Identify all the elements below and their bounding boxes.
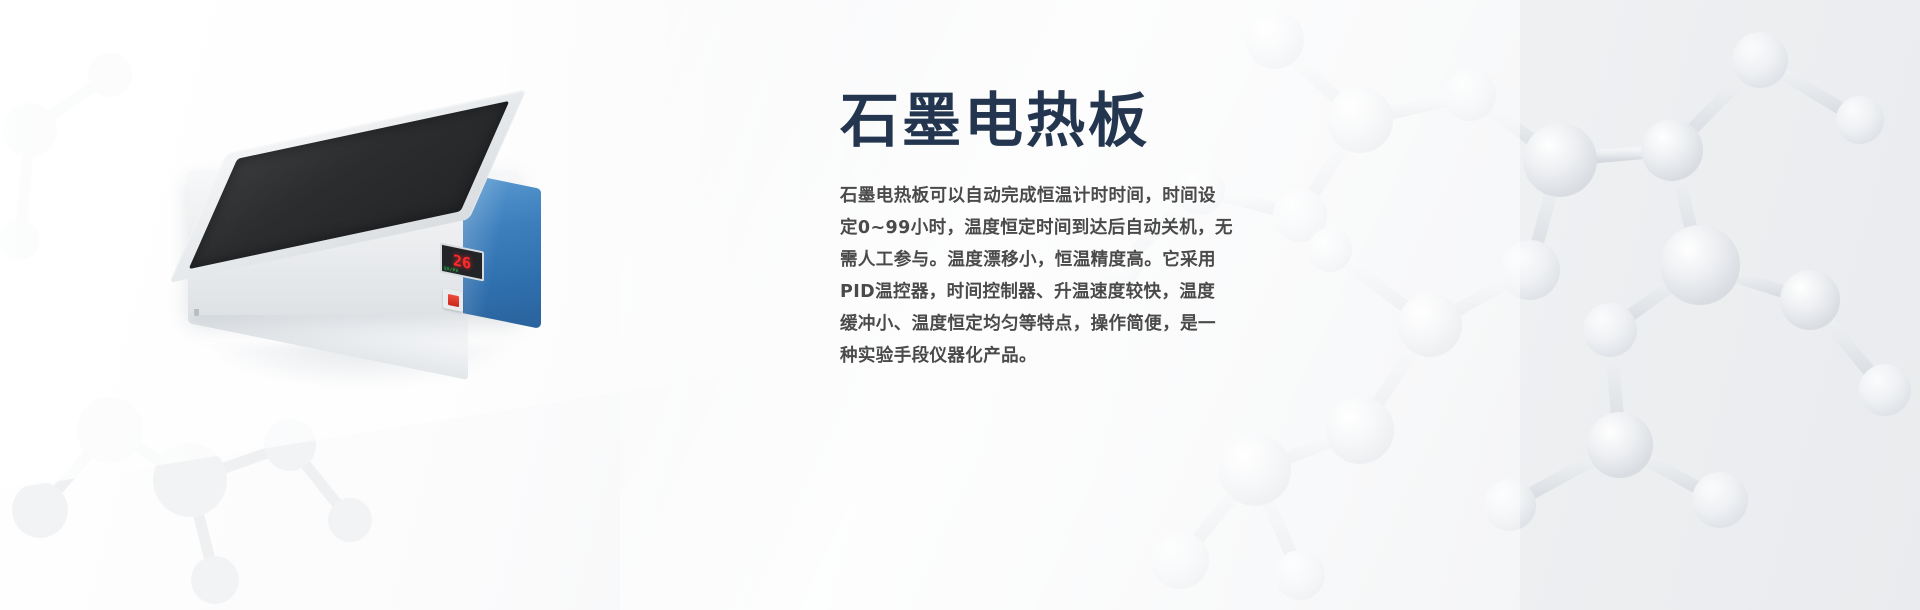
power-switch-rocker [448, 293, 459, 306]
hotplate-foot [194, 309, 199, 316]
page-title: 石墨电热板 [840, 90, 1310, 152]
product-image-graphite-hotplate: 26 SV/PV [150, 95, 630, 395]
description-line: 定0~99小时，温度恒定时间到达后自动关机，无 [840, 212, 1310, 244]
product-banner: 26 SV/PV 石墨电热板 石墨电热板可以自动完成恒温计时时间，时间设 定0~… [0, 0, 1920, 610]
banner-text-block: 石墨电热板 石墨电热板可以自动完成恒温计时时间，时间设 定0~99小时，温度恒定… [840, 90, 1310, 372]
description-line: 石墨电热板可以自动完成恒温计时时间，时间设 [840, 180, 1310, 212]
description-line: PID温控器，时间控制器、升温速度较快，温度 [840, 276, 1310, 308]
description-line: 缓冲小、温度恒定均匀等特点，操作简便，是一 [840, 308, 1310, 340]
power-switch[interactable] [443, 288, 463, 312]
product-description: 石墨电热板可以自动完成恒温计时时间，时间设 定0~99小时，温度恒定时间到达后自… [840, 180, 1310, 372]
description-line: 种实验手段仪器化产品。 [840, 340, 1310, 372]
description-line: 需人工参与。温度漂移小，恒温精度高。它采用 [840, 244, 1310, 276]
